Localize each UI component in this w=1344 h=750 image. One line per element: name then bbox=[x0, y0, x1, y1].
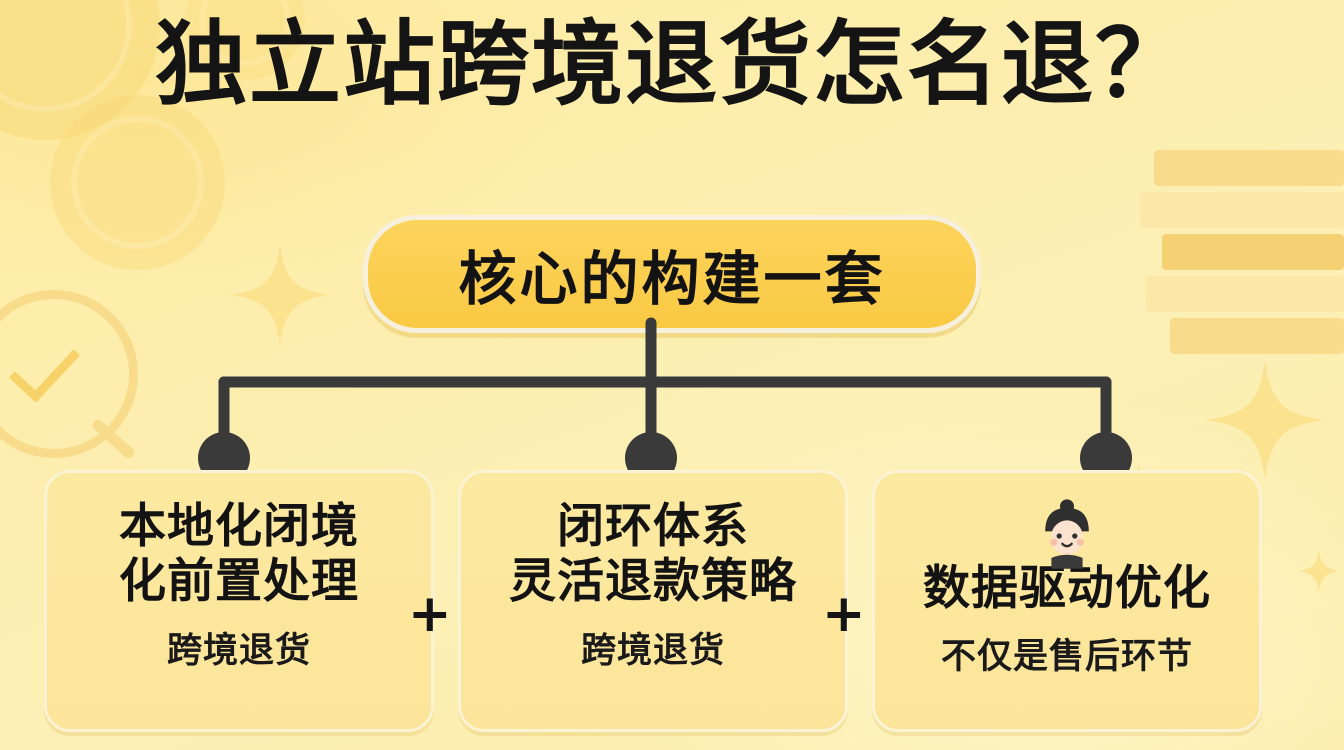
sparkle-icon bbox=[225, 240, 335, 350]
core-node[interactable]: 核心的构建一套 bbox=[363, 215, 981, 333]
plus-separator-2: + bbox=[822, 584, 866, 644]
sparkle-icon bbox=[1200, 355, 1330, 485]
branch-card-title: 闭环体系 灵活退款策略 bbox=[509, 499, 797, 610]
core-node-label: 核心的构建一套 bbox=[458, 232, 885, 316]
branch-card-subtitle: 跨境退货 bbox=[167, 622, 311, 673]
citrus-slice-icon bbox=[50, 95, 225, 270]
branch-card-subtitle: 不仅是售后环节 bbox=[941, 628, 1193, 679]
branch-card-title: 本地化闭境 化前置处理 bbox=[119, 499, 359, 610]
sparkle-icon bbox=[1296, 548, 1342, 594]
branch-card-2[interactable]: 闭环体系 灵活退款策略 跨境退货 bbox=[458, 470, 848, 732]
magnifier-check-icon bbox=[0, 290, 140, 460]
branch-card-1[interactable]: 本地化闭境 化前置处理 跨境退货 bbox=[44, 470, 434, 732]
stacked-books-icon bbox=[1134, 150, 1344, 380]
page-title: 独立站跨境退货怎名退？ bbox=[0, 14, 1344, 115]
branch-card-3[interactable]: 数据驱动优化 不仅是售后环节 bbox=[872, 470, 1262, 732]
branch-card-subtitle: 跨境退货 bbox=[581, 622, 725, 673]
plus-separator-1: + bbox=[408, 584, 452, 644]
girl-avatar-icon bbox=[1028, 497, 1106, 575]
